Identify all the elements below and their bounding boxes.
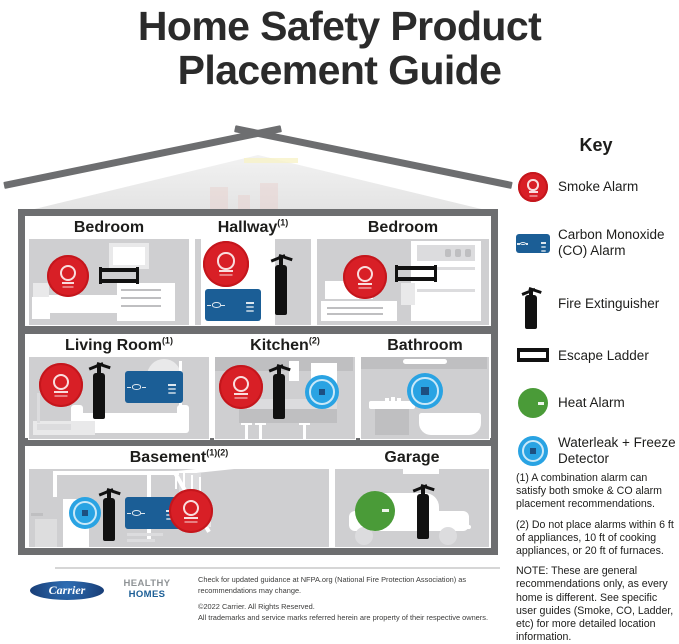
room-label: Garage: [335, 447, 489, 469]
heat-alarm-icon: [355, 491, 395, 531]
room-scene: [29, 239, 189, 325]
room-scene: [335, 469, 489, 547]
waterleak-freeze-detector-icon: [69, 497, 101, 529]
footer: Carrier HEALTHY HOMES Check for updated …: [18, 573, 508, 618]
room-label: Bathroom: [361, 335, 489, 357]
waterleak-freeze-detector-icon: [516, 434, 558, 468]
room-bedroom-left[interactable]: Bedroom: [28, 216, 190, 326]
room-kitchen[interactable]: Kitchen(2): [214, 334, 356, 440]
smoke-alarm-icon: [516, 170, 558, 204]
co-alarm-icon: [205, 289, 261, 321]
key-item-label: Fire Extinguisher: [558, 296, 659, 312]
room-label: Living Room(1): [29, 335, 209, 357]
key-item-label: Escape Ladder: [558, 348, 649, 364]
key-item-label: Heat Alarm: [558, 395, 625, 411]
room-label: Bedroom: [317, 217, 489, 239]
footer-divider: [55, 567, 500, 569]
notes-panel: (1) A combination alarm can satisfy both…: [516, 472, 679, 644]
house-frame-top: [18, 209, 498, 216]
key-item-label: Smoke Alarm: [558, 179, 638, 195]
heat-alarm-icon: [516, 386, 558, 420]
room-scene: [195, 239, 311, 325]
healthy-homes-line-2: HOMES: [116, 590, 178, 601]
fire-extinguisher-icon: [89, 361, 109, 419]
carrier-logo: Carrier: [30, 581, 104, 600]
smoke-alarm-icon: [343, 255, 387, 299]
key-item-co-alarm: Carbon Monoxide (CO) Alarm: [516, 217, 676, 269]
room-basement[interactable]: Basement(1)(2): [28, 446, 330, 548]
key-heading: Key: [516, 135, 676, 156]
house-frame-divider-1: [18, 326, 498, 334]
room-bedroom-right[interactable]: Bedroom: [316, 216, 490, 326]
key-item-smoke-alarm: Smoke Alarm: [516, 170, 676, 204]
room-scene: [29, 469, 329, 547]
disclaimer-line-1: Check for updated guidance at NFPA.org (…: [198, 574, 508, 596]
house-frame-bottom: [18, 548, 498, 555]
key-item-label: Carbon Monoxide (CO) Alarm: [558, 227, 676, 259]
title-line-2: Placement Guide: [0, 48, 679, 92]
key-item-fire-extinguisher: Fire Extinguisher: [516, 282, 676, 326]
roof-highlight: [244, 158, 298, 163]
house-diagram: Bedroom Hallway(1): [8, 155, 508, 560]
waterleak-freeze-detector-icon: [407, 373, 443, 409]
room-label: Hallway(1): [195, 217, 311, 239]
room-garage[interactable]: Garage: [334, 446, 490, 548]
house-frame-left: [18, 209, 25, 555]
healthy-homes-logo: HEALTHY HOMES: [116, 579, 178, 600]
escape-ladder-icon: [395, 265, 437, 282]
footer-disclaimer: Check for updated guidance at NFPA.org (…: [198, 574, 508, 623]
fire-extinguisher-icon: [99, 487, 119, 541]
room-scene: [215, 357, 355, 439]
disclaimer-line-3: All trademarks and service marks referre…: [198, 612, 508, 623]
title-line-1: Home Safety Product: [138, 3, 541, 49]
room-label: Bedroom: [29, 217, 189, 239]
room-scene: [29, 357, 209, 439]
carrier-logo-text: Carrier: [30, 581, 104, 600]
smoke-alarm-icon: [203, 241, 249, 287]
co-alarm-icon: [516, 226, 558, 260]
room-bathroom[interactable]: Bathroom: [360, 334, 490, 440]
key-item-escape-ladder: Escape Ladder: [516, 339, 676, 373]
waterleak-freeze-detector-icon: [305, 375, 339, 409]
room-scene: [361, 357, 489, 439]
escape-ladder-icon: [516, 339, 558, 373]
key-item-heat-alarm: Heat Alarm: [516, 386, 676, 420]
room-label: Kitchen(2): [215, 335, 355, 357]
healthy-homes-line-1: HEALTHY: [116, 579, 178, 590]
roof-decoration: [208, 173, 308, 213]
fire-extinguisher-icon: [413, 483, 433, 539]
fire-extinguisher-icon: [269, 363, 289, 419]
note-2: (2) Do not place alarms within 6 ft of a…: [516, 519, 679, 559]
key-panel: Key Smoke Alarm Carbon Monoxide (CO) Ala…: [516, 135, 676, 482]
smoke-alarm-icon: [47, 255, 89, 297]
smoke-alarm-icon: [169, 489, 213, 533]
room-hallway[interactable]: Hallway(1): [194, 216, 312, 326]
room-scene: [317, 239, 489, 325]
key-item-label: Waterleak + Freeze Detector: [558, 435, 676, 467]
disclaimer-line-2: ©2022 Carrier. All Rights Reserved.: [198, 601, 508, 612]
escape-ladder-icon: [99, 267, 139, 284]
co-alarm-icon: [125, 371, 183, 403]
note-3: NOTE: These are general recommendations …: [516, 565, 679, 644]
room-label: Basement(1)(2): [29, 447, 329, 469]
key-item-waterleak-freeze-detector: Waterleak + Freeze Detector: [516, 433, 676, 469]
smoke-alarm-icon: [219, 365, 263, 409]
room-living-room[interactable]: Living Room(1): [28, 334, 210, 440]
house-frame-right: [491, 209, 498, 555]
fire-extinguisher-icon: [271, 253, 291, 315]
smoke-alarm-icon: [39, 363, 83, 407]
note-1: (1) A combination alarm can satisfy both…: [516, 472, 679, 512]
fire-extinguisher-icon: [516, 287, 558, 321]
page-title: Home Safety Product Placement Guide: [0, 4, 679, 92]
